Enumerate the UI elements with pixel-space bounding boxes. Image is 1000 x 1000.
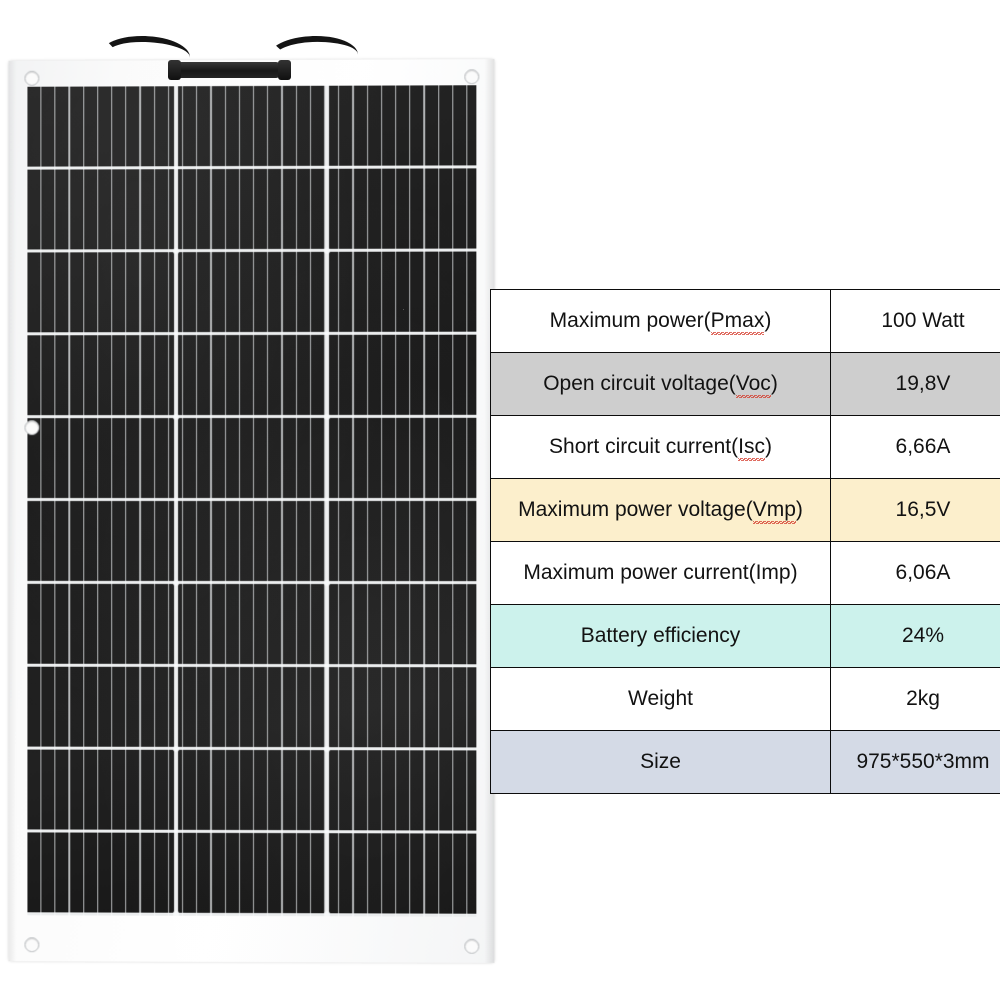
spec-value-label: 6,66A [896,435,951,458]
grommet-hole-bottom-right [464,939,479,954]
table-row: Maximum power(Pmax) 100 Watt [491,290,1000,353]
spec-value-cell: 6,66A [831,416,1000,479]
spec-parameter-cell: Weight [491,668,831,731]
spec-parameter-label: Battery efficiency [581,624,741,647]
table-row: Maximum power current(Imp) 6,06A [491,542,1000,605]
busbar-node [324,911,330,916]
spec-value-cell: 24% [831,605,1000,668]
spec-value-label: 6,06A [896,561,951,584]
spec-parameter-label: Short circuit current(Isc) [549,435,772,458]
spellcheck-underline: Isc [738,435,765,458]
spec-parameter-cell: Size [491,731,831,794]
junction-box-collar-left [168,60,181,80]
spec-parameter-cell: Open circuit voltage(Voc) [491,353,831,416]
specification-table: Maximum power(Pmax) 100 Watt Open circui… [490,289,1000,794]
busbar-node [324,746,330,752]
busbar-node [324,580,330,586]
grommet-hole-top-left [24,71,39,86]
spec-parameter-label: Maximum power(Pmax) [550,309,772,332]
busbar-node [173,746,179,752]
panel-left-edge-shadow [9,61,17,961]
spec-value-cell: 6,06A [831,542,1000,605]
table-row: Battery efficiency 24% [491,605,1000,668]
busbar-node [324,248,330,254]
spec-parameter-label: Open circuit voltage(Voc) [543,372,778,395]
junction-box [176,62,280,78]
spec-parameter-cell: Maximum power voltage(Vmp) [491,479,831,542]
cell-row-separators [27,85,476,916]
spec-parameter-cell: Battery efficiency [491,605,831,668]
spec-value-label: 100 Watt [881,309,964,332]
table-row: Size 975*550*3mm [491,731,1000,794]
spec-value-label: 975*550*3mm [856,750,989,773]
grommet-hole-middle-left [24,420,39,435]
solar-panel-photo [0,0,500,1000]
spec-parameter-label: Maximum power current(Imp) [523,561,797,584]
spec-parameter-label: Maximum power voltage(Vmp) [518,498,803,521]
busbar-node [173,414,179,420]
cell-column-separator [174,86,178,916]
product-spec-image: Maximum power(Pmax) 100 Watt Open circui… [0,0,1000,1000]
spec-value-cell: 16,5V [831,479,1000,542]
spec-parameter-label: Size [640,750,681,773]
grommet-hole-bottom-left [24,937,39,952]
spec-value-label: 2kg [906,687,940,710]
specification-table-body: Maximum power(Pmax) 100 Watt Open circui… [491,290,1000,794]
grommet-hole-top-right [464,69,479,84]
table-row: Open circuit voltage(Voc) 19,8V [491,353,1000,416]
panel-laminate-body [9,59,495,963]
busbar-node [173,248,179,254]
spec-parameter-label: Weight [628,687,693,710]
cell-column-separator [325,86,329,917]
solar-cell-array [27,85,476,916]
spellcheck-underline: Pmax [711,309,765,332]
table-row: Short circuit current(Isc) 6,66A [491,416,1000,479]
spec-value-label: 24% [902,624,944,647]
spec-parameter-cell: Maximum power(Pmax) [491,290,831,353]
spec-value-label: 19,8V [896,372,951,395]
junction-box-collar-right [278,60,291,80]
spec-value-cell: 2kg [831,668,1000,731]
spec-parameter-cell: Short circuit current(Isc) [491,416,831,479]
spec-value-label: 16,5V [896,498,951,521]
table-row: Maximum power voltage(Vmp) 16,5V [491,479,1000,542]
spellcheck-underline: Voc [736,372,771,395]
spec-parameter-cell: Maximum power current(Imp) [491,542,831,605]
busbar-node [173,580,179,586]
spec-value-cell: 19,8V [831,353,1000,416]
busbar-node [324,414,330,420]
spec-value-cell: 975*550*3mm [831,731,1000,794]
busbar-node [173,911,179,917]
table-row: Weight 2kg [491,668,1000,731]
spellcheck-underline: Vmp [753,498,796,521]
spec-value-cell: 100 Watt [831,290,1000,353]
